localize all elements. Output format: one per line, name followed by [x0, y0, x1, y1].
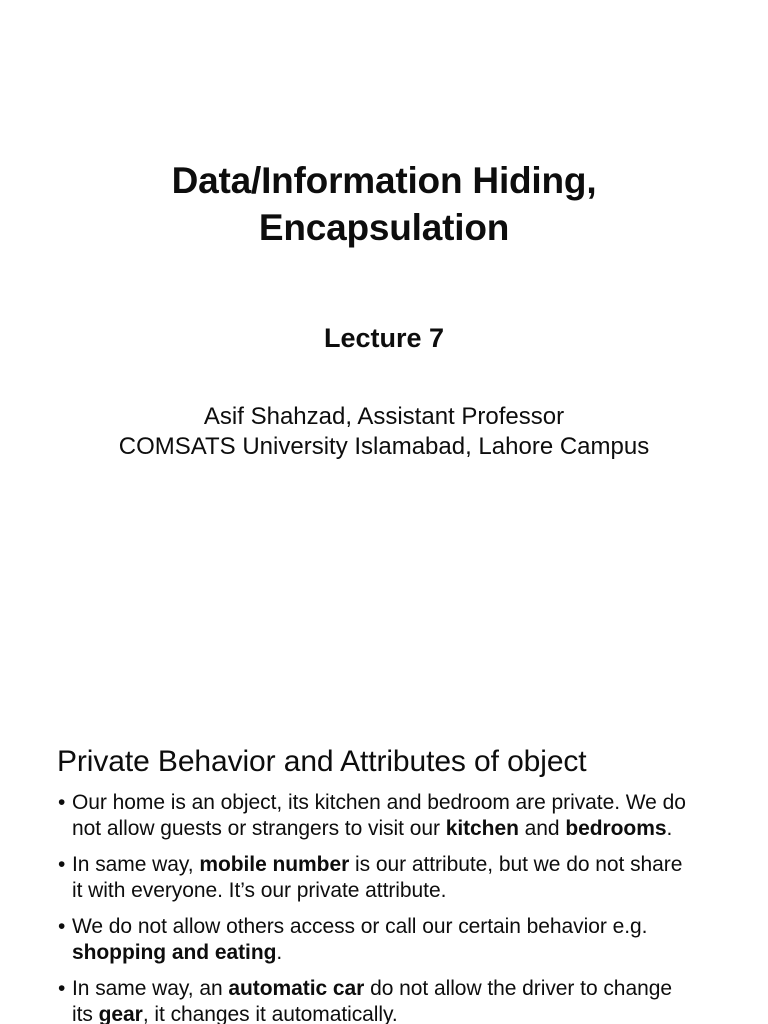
bullet-dot-icon: • — [58, 790, 65, 816]
presenter-name: Asif Shahzad, Assistant Professor — [64, 402, 704, 432]
list-item: • In same way, an automatic car do not a… — [57, 976, 695, 1024]
list-item: • Our home is an object, its kitchen and… — [57, 790, 695, 842]
lecture-number: Lecture 7 — [84, 321, 684, 355]
slide-deck-page: Data/Information Hiding, Encapsulation L… — [0, 0, 768, 1024]
content-slide-heading: Private Behavior and Attributes of objec… — [57, 743, 717, 781]
bullet-list: • Our home is an object, its kitchen and… — [57, 790, 695, 1024]
list-item-text: We do not allow others access or call ou… — [72, 915, 647, 964]
bullet-dot-icon: • — [58, 976, 65, 1002]
list-item: • In same way, mobile number is our attr… — [57, 852, 695, 904]
bullet-dot-icon: • — [58, 914, 65, 940]
presenter-affiliation: COMSATS University Islamabad, Lahore Cam… — [64, 432, 704, 462]
presenter-block: Asif Shahzad, Assistant Professor COMSAT… — [64, 402, 704, 462]
list-item-text: Our home is an object, its kitchen and b… — [72, 791, 686, 840]
title-slide: Data/Information Hiding, Encapsulation L… — [0, 0, 768, 600]
list-item-text: In same way, mobile number is our attrib… — [72, 853, 682, 902]
list-item-text: In same way, an automatic car do not all… — [72, 977, 672, 1024]
content-slide: Private Behavior and Attributes of objec… — [0, 600, 768, 1024]
bullet-dot-icon: • — [58, 852, 65, 878]
deck-title: Data/Information Hiding, Encapsulation — [84, 157, 684, 251]
list-item: • We do not allow others access or call … — [57, 914, 695, 966]
